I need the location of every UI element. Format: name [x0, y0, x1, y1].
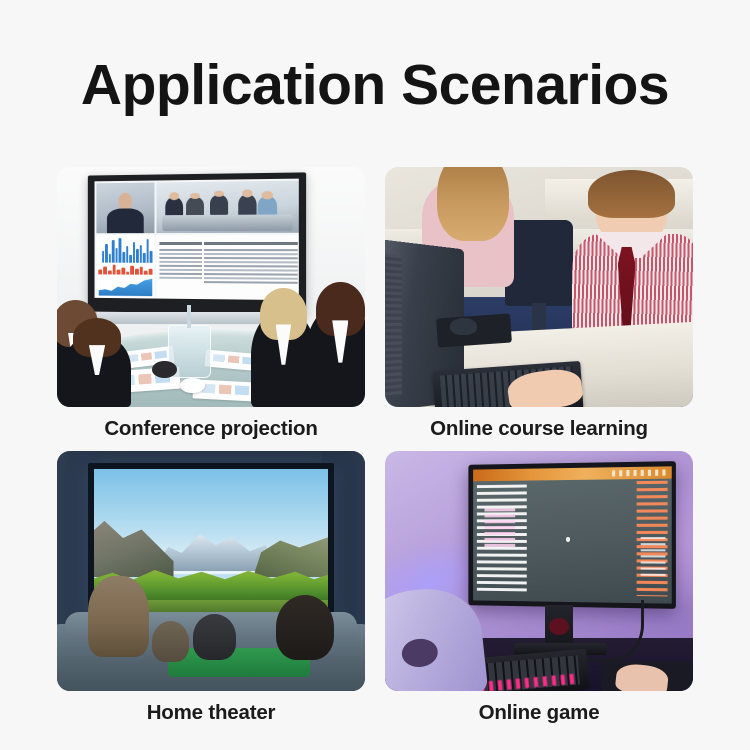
gaming-monitor — [468, 461, 676, 609]
viewer-father — [276, 595, 335, 660]
application-scenarios-page: Application Scenarios — [0, 0, 750, 750]
remote-person — [185, 197, 203, 216]
scenario-image-conference-projection[interactable] — [57, 167, 365, 407]
scenario-card-home-theater[interactable]: Home theater — [57, 451, 365, 727]
scenario-card-online-course-learning[interactable]: Online course learning — [385, 167, 693, 443]
remote-meeting-table — [162, 215, 292, 231]
remote-participant-thumbnail — [96, 183, 154, 233]
display-screen — [94, 179, 298, 300]
bar-chart-blue — [98, 237, 152, 262]
viewer-mother — [88, 576, 150, 658]
game-chat-highlight — [484, 508, 515, 548]
scenario-caption-home-theater: Home theater — [57, 701, 365, 725]
scenario-caption-conference-projection: Conference projection — [57, 417, 365, 441]
scenario-image-home-theater[interactable] — [57, 451, 365, 691]
scenario-image-online-course-learning[interactable] — [385, 167, 693, 407]
scenario-caption-online-game: Online game — [385, 701, 693, 725]
computer-mouse[interactable] — [450, 318, 478, 335]
viewer-child-two — [193, 614, 236, 660]
attendee-left-front — [63, 335, 131, 407]
tea-cup — [180, 378, 205, 392]
scenario-caption-online-course-learning: Online course learning — [385, 417, 693, 441]
game-hud-topbar — [473, 466, 672, 481]
scenario-card-online-game[interactable]: Online game — [385, 451, 693, 727]
page-title: Application Scenarios — [0, 56, 750, 116]
scenario-image-online-game[interactable] — [385, 451, 693, 691]
bar-chart-red — [98, 264, 152, 274]
scenario-grid: Conference projection — [57, 167, 693, 727]
viewer-child-one — [152, 621, 189, 662]
game-crosshair — [566, 537, 570, 542]
remote-person — [238, 195, 257, 217]
game-screen — [473, 466, 672, 603]
scenario-card-conference-projection[interactable]: Conference projection — [57, 167, 365, 443]
game-stats-right — [641, 537, 666, 578]
text-column-left — [159, 238, 202, 296]
remote-meeting-video-feed — [156, 181, 298, 233]
monitor-stand-neck — [545, 605, 573, 648]
remote-person — [209, 195, 227, 215]
attendee-right-brunette — [306, 306, 365, 407]
presentation-charts-panel — [96, 235, 154, 298]
area-chart-trend — [98, 277, 152, 296]
